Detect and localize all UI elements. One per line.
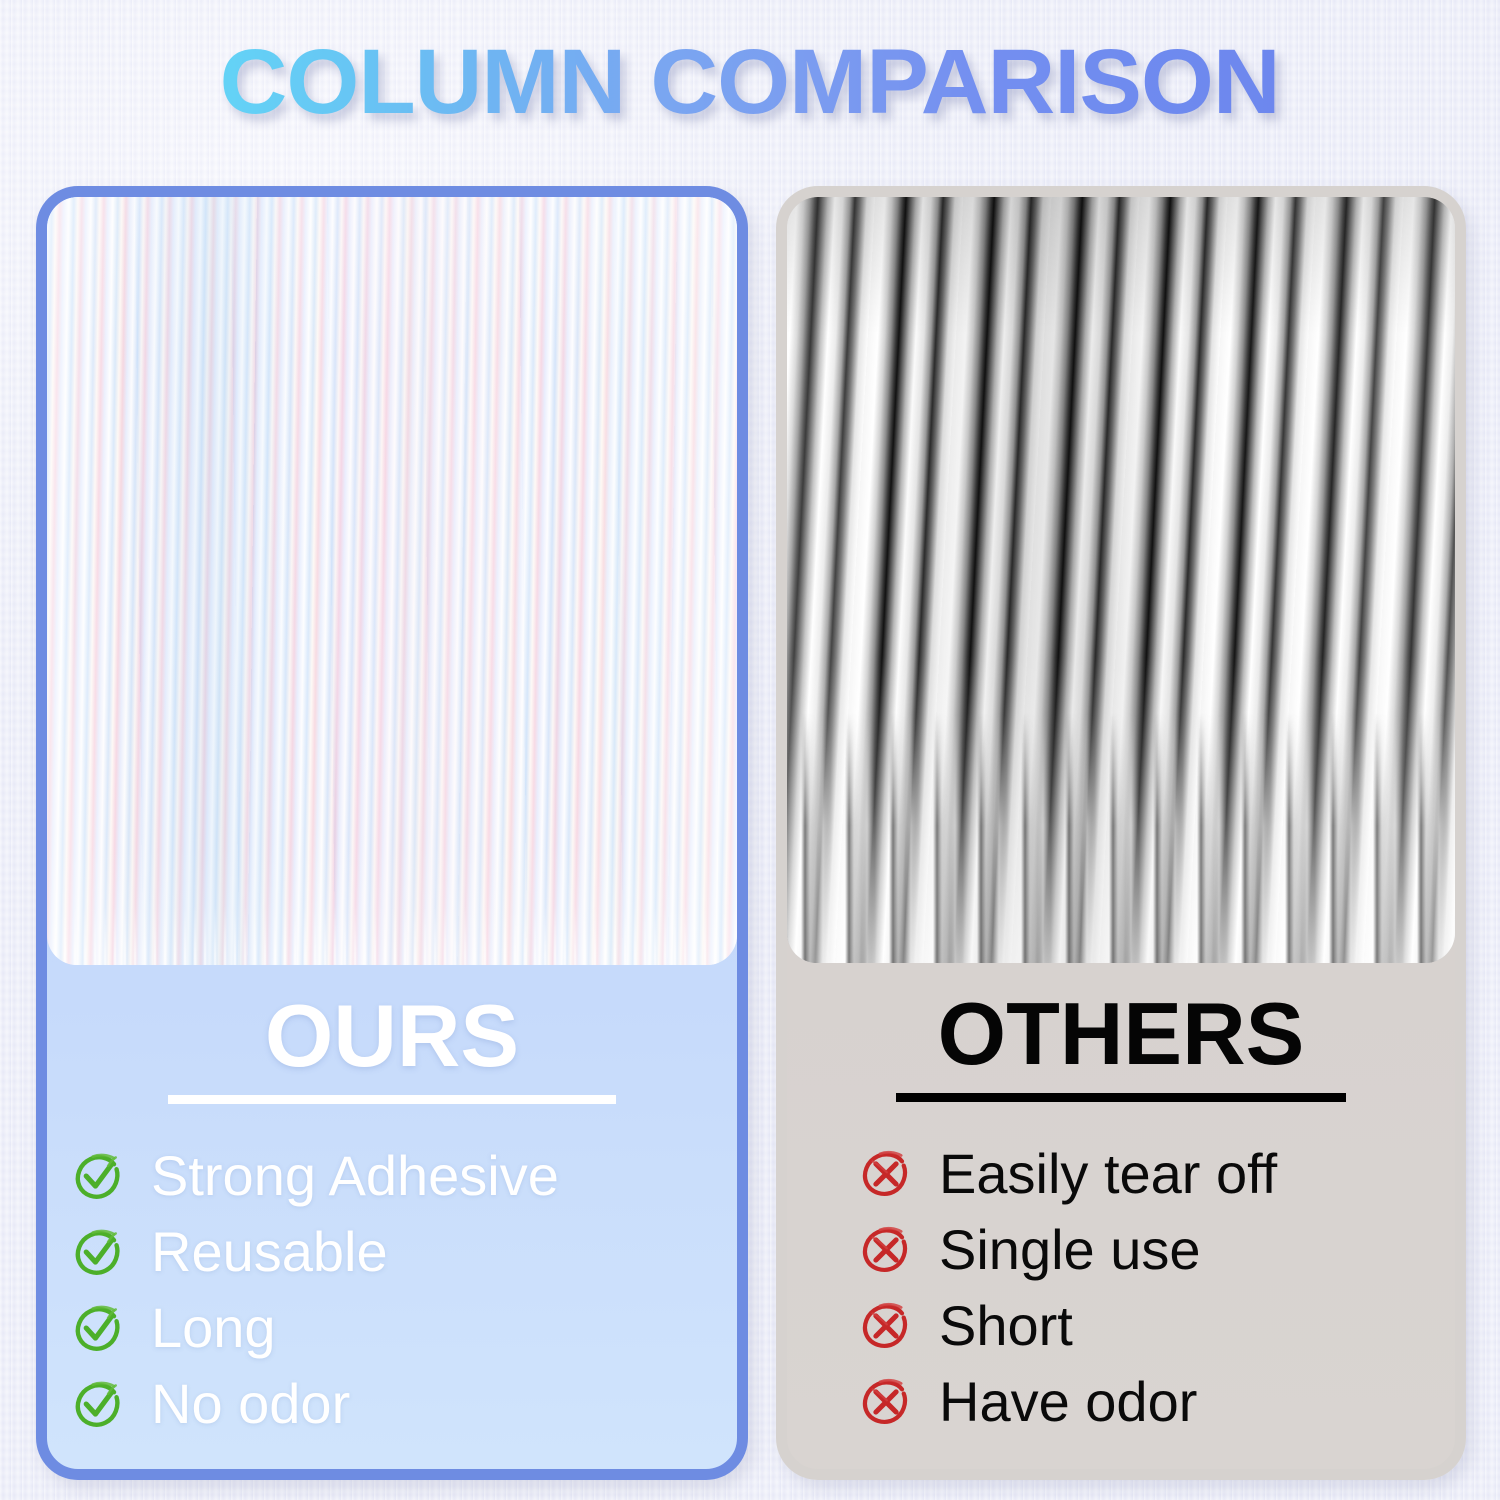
feature-label: Single use bbox=[939, 1222, 1201, 1278]
check-circle-icon bbox=[71, 1225, 125, 1279]
feature-label: No odor bbox=[151, 1376, 350, 1432]
product-photo-ours bbox=[47, 197, 737, 965]
check-circle-icon bbox=[71, 1149, 125, 1203]
feature-list-others: Easily tear off Single use bbox=[787, 1136, 1455, 1440]
feature-list-ours: Strong Adhesive Reusable bbox=[47, 1138, 737, 1442]
feature-item: Strong Adhesive bbox=[71, 1138, 737, 1214]
heading-divider-ours bbox=[168, 1095, 616, 1104]
page-title: COLUMN COMPARISON bbox=[220, 36, 1280, 128]
cross-circle-icon bbox=[859, 1223, 913, 1277]
photo-fringe-tips-overlay bbox=[47, 905, 737, 965]
feature-label: Strong Adhesive bbox=[151, 1148, 559, 1204]
check-circle-icon bbox=[71, 1301, 125, 1355]
panel-heading-ours: OURS bbox=[47, 991, 737, 1081]
feature-item: Reusable bbox=[71, 1214, 737, 1290]
heading-divider-others bbox=[896, 1093, 1346, 1102]
feature-label: Have odor bbox=[939, 1374, 1197, 1430]
cross-circle-icon bbox=[859, 1375, 913, 1429]
caption-ours: OURS Strong Adhesive bbox=[47, 965, 737, 1442]
product-photo-others bbox=[787, 197, 1455, 963]
caption-others: OTHERS Easily tear off bbox=[787, 963, 1455, 1440]
panel-heading-others: OTHERS bbox=[787, 989, 1455, 1079]
feature-label: Short bbox=[939, 1298, 1073, 1354]
comparison-panel-ours: OURS Strong Adhesive bbox=[36, 186, 748, 1480]
cross-circle-icon bbox=[859, 1147, 913, 1201]
cross-circle-icon bbox=[859, 1299, 913, 1353]
feature-label: Easily tear off bbox=[939, 1146, 1277, 1202]
feature-item: No odor bbox=[71, 1366, 737, 1442]
photo-torn-tips-overlay bbox=[787, 713, 1455, 963]
page-title-container: COLUMN COMPARISON bbox=[0, 36, 1500, 128]
check-circle-icon bbox=[71, 1377, 125, 1431]
feature-item: Easily tear off bbox=[859, 1136, 1455, 1212]
feature-item: Long bbox=[71, 1290, 737, 1366]
feature-item: Short bbox=[859, 1288, 1455, 1364]
feature-label: Long bbox=[151, 1300, 276, 1356]
feature-item: Single use bbox=[859, 1212, 1455, 1288]
feature-label: Reusable bbox=[151, 1224, 388, 1280]
feature-item: Have odor bbox=[859, 1364, 1455, 1440]
comparison-panel-others: OTHERS Easily tear off bbox=[776, 186, 1466, 1480]
photo-sheen-overlay bbox=[47, 197, 737, 965]
